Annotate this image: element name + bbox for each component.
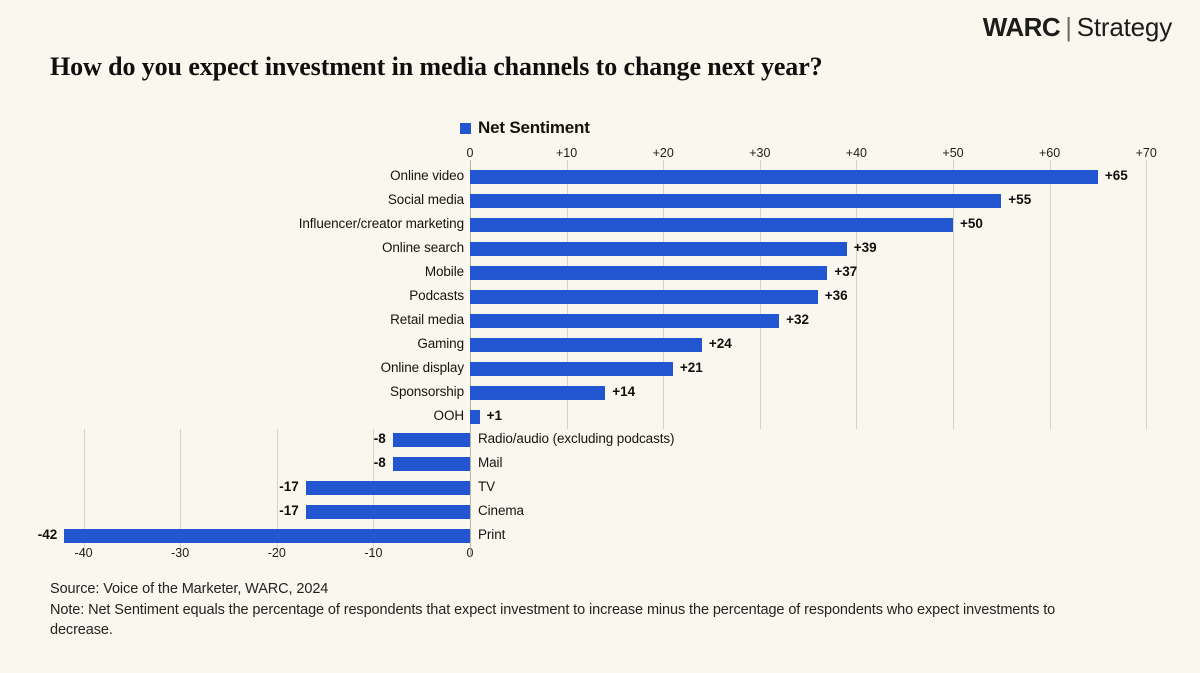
category-label-podcasts: Podcasts	[409, 288, 464, 303]
bar-podcasts[interactable]	[470, 290, 818, 304]
chart-bar-row: TV-17	[0, 481, 1200, 495]
chart-bar-row: Social media+55	[0, 194, 1200, 208]
bar-online-search[interactable]	[470, 242, 847, 256]
value-label-online-display: +21	[680, 360, 703, 375]
bottom-axis-tick--40: -40	[75, 546, 93, 560]
value-label-mobile: +37	[834, 264, 857, 279]
bar-cinema[interactable]	[306, 505, 470, 519]
category-label-radio-audio-excluding-podcasts: Radio/audio (excluding podcasts)	[478, 431, 674, 446]
category-label-social-media: Social media	[388, 192, 464, 207]
category-label-tv: TV	[478, 479, 495, 494]
top-axis-tick-+40: +40	[846, 146, 867, 160]
value-label-social-media: +55	[1008, 192, 1031, 207]
bar-mail[interactable]	[393, 457, 470, 471]
bar-mobile[interactable]	[470, 266, 827, 280]
category-label-online-search: Online search	[382, 240, 464, 255]
category-label-online-video: Online video	[390, 168, 464, 183]
value-label-sponsorship: +14	[612, 384, 635, 399]
category-label-cinema: Cinema	[478, 503, 524, 518]
chart-bar-row: Podcasts+36	[0, 290, 1200, 304]
source-text: Source: Voice of the Marketer, WARC, 202…	[50, 579, 1080, 600]
bar-tv[interactable]	[306, 481, 470, 495]
category-label-retail-media: Retail media	[390, 312, 464, 327]
chart-bar-row: Influencer/creator marketing+50	[0, 218, 1200, 232]
bar-radio-audio-excluding-podcasts[interactable]	[393, 433, 470, 447]
top-axis-tick-+50: +50	[942, 146, 963, 160]
top-axis-tick-+70: +70	[1136, 146, 1157, 160]
value-label-online-search: +39	[854, 240, 877, 255]
chart-page: WARC|Strategy How do you expect investme…	[0, 0, 1200, 673]
bar-print[interactable]	[64, 529, 470, 543]
bar-online-video[interactable]	[470, 170, 1098, 184]
chart-bar-row: Retail media+32	[0, 314, 1200, 328]
chart-bar-row: OOH+1	[0, 410, 1200, 424]
note-text: Note: Net Sentiment equals the percentag…	[50, 600, 1080, 641]
value-label-online-video: +65	[1105, 168, 1128, 183]
bottom-axis-tick--20: -20	[268, 546, 286, 560]
category-label-ooh: OOH	[434, 408, 464, 423]
value-label-podcasts: +36	[825, 288, 848, 303]
bar-retail-media[interactable]	[470, 314, 779, 328]
top-axis-tick-+60: +60	[1039, 146, 1060, 160]
top-axis-tick-+30: +30	[749, 146, 770, 160]
value-label-tv: -17	[279, 479, 299, 494]
bar-sponsorship[interactable]	[470, 386, 605, 400]
chart-bar-row: Online display+21	[0, 362, 1200, 376]
top-axis-tick-+10: +10	[556, 146, 577, 160]
chart-bar-row: Gaming+24	[0, 338, 1200, 352]
category-label-online-display: Online display	[381, 360, 464, 375]
bar-gaming[interactable]	[470, 338, 702, 352]
bar-influencer-creator-marketing[interactable]	[470, 218, 953, 232]
chart-footnotes: Source: Voice of the Marketer, WARC, 202…	[50, 579, 1080, 641]
chart-bar-row: Online video+65	[0, 170, 1200, 184]
bottom-axis-tick--30: -30	[171, 546, 189, 560]
bottom-axis-tick--10: -10	[364, 546, 382, 560]
bar-online-display[interactable]	[470, 362, 673, 376]
category-label-print: Print	[478, 527, 505, 542]
category-label-sponsorship: Sponsorship	[390, 384, 464, 399]
value-label-cinema: -17	[279, 503, 299, 518]
chart-bar-row: Online search+39	[0, 242, 1200, 256]
chart-bar-row: Sponsorship+14	[0, 386, 1200, 400]
chart-bar-row: Mail-8	[0, 457, 1200, 471]
value-label-mail: -8	[374, 455, 386, 470]
value-label-influencer-creator-marketing: +50	[960, 216, 983, 231]
chart-bar-row: Print-42	[0, 529, 1200, 543]
bar-ooh[interactable]	[470, 410, 480, 424]
top-axis-tick-+20: +20	[653, 146, 674, 160]
category-label-gaming: Gaming	[417, 336, 464, 351]
chart-bar-row: Cinema-17	[0, 505, 1200, 519]
bar-social-media[interactable]	[470, 194, 1001, 208]
value-label-ooh: +1	[487, 408, 502, 423]
category-label-mobile: Mobile	[425, 264, 464, 279]
chart-plot-area: 0+10+20+30+40+50+60+70-40-30-20-100Onlin…	[0, 0, 1200, 673]
category-label-mail: Mail	[478, 455, 502, 470]
chart-bar-row: Radio/audio (excluding podcasts)-8	[0, 433, 1200, 447]
category-label-influencer-creator-marketing: Influencer/creator marketing	[299, 216, 464, 231]
value-label-gaming: +24	[709, 336, 732, 351]
value-label-retail-media: +32	[786, 312, 809, 327]
value-label-print: -42	[38, 527, 58, 542]
value-label-radio-audio-excluding-podcasts: -8	[374, 431, 386, 446]
top-axis-tick-0: 0	[467, 146, 474, 160]
chart-bar-row: Mobile+37	[0, 266, 1200, 280]
